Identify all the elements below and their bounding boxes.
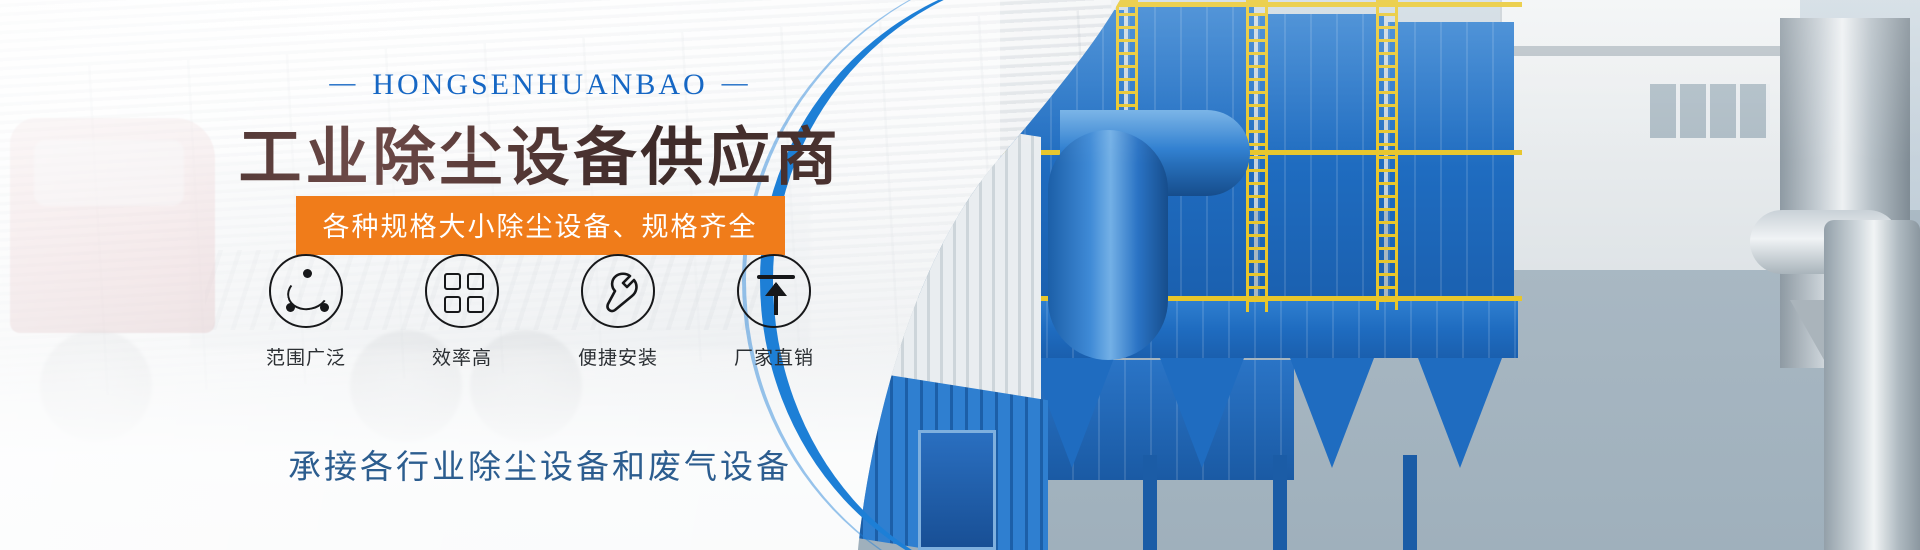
grid-cell bbox=[444, 296, 461, 313]
hopper-cone bbox=[1290, 358, 1374, 468]
eyebrow-dash-left: — bbox=[315, 68, 372, 97]
network-nodes-icon bbox=[269, 254, 343, 328]
tagline-badge: 各种规格大小除尘设备、规格齐全 bbox=[296, 196, 785, 255]
grid-cell bbox=[467, 273, 484, 290]
feature-item-direct-sales[interactable]: 厂家直销 bbox=[730, 254, 818, 370]
feature-label: 便捷安装 bbox=[574, 343, 662, 370]
steel-silo-secondary bbox=[1824, 220, 1920, 550]
eyebrow-dash-right: — bbox=[708, 68, 765, 97]
feature-item-installation[interactable]: 便捷安装 bbox=[574, 254, 662, 370]
grid-cell bbox=[444, 273, 461, 290]
building-roof-line bbox=[1500, 46, 1800, 56]
feature-item-range[interactable]: 范围广泛 bbox=[262, 254, 350, 370]
hero-content: —HONGSENHUANBAO— 工业除尘设备供应商 各种规格大小除尘设备、规格… bbox=[0, 0, 1000, 550]
node-dot bbox=[286, 303, 295, 312]
grid-glyph bbox=[444, 273, 484, 313]
arrow-shaft bbox=[774, 284, 778, 315]
grid-squares-icon bbox=[425, 254, 499, 328]
wrench-glyph bbox=[599, 271, 643, 315]
support-leg bbox=[1143, 455, 1157, 550]
page-title: 工业除尘设备供应商 bbox=[0, 107, 1080, 198]
dust-collector-module bbox=[1388, 22, 1514, 318]
feature-label: 范围广泛 bbox=[262, 343, 350, 370]
grid-cell bbox=[467, 296, 484, 313]
hopper-cone bbox=[1418, 358, 1502, 468]
arrow-top-bar bbox=[757, 275, 795, 279]
support-leg bbox=[1273, 455, 1287, 550]
feature-item-efficiency[interactable]: 效率高 bbox=[418, 254, 506, 370]
hero-banner: —HONGSENHUANBAO— 工业除尘设备供应商 各种规格大小除尘设备、规格… bbox=[0, 0, 1920, 550]
wrench-icon bbox=[581, 254, 655, 328]
dust-collector-module bbox=[1258, 14, 1384, 314]
node-dot bbox=[303, 269, 312, 278]
hero-subline: 承接各行业除尘设备和废气设备 bbox=[0, 440, 1080, 488]
access-ladder bbox=[1376, 0, 1398, 310]
node-dot bbox=[320, 303, 329, 312]
support-leg bbox=[1403, 455, 1417, 550]
tagline-container: 各种规格大小除尘设备、规格齐全 bbox=[0, 196, 1080, 255]
feature-list: 范围广泛 效率高 bbox=[0, 254, 1080, 370]
feature-label: 效率高 bbox=[418, 343, 506, 370]
feature-label: 厂家直销 bbox=[730, 343, 818, 370]
eyebrow-text: HONGSENHUANBAO bbox=[372, 68, 707, 101]
brand-eyebrow: —HONGSENHUANBAO— bbox=[0, 68, 1080, 102]
hopper-cone bbox=[1160, 358, 1244, 468]
arrow-up-icon bbox=[737, 254, 811, 328]
building-window-band bbox=[1650, 84, 1770, 138]
